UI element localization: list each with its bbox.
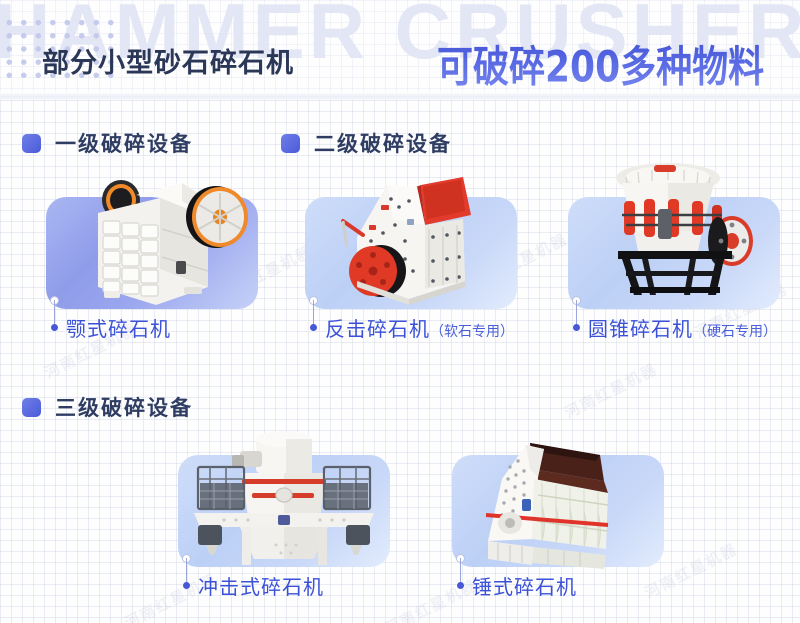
section-heading-secondary: 二级破碎设备: [281, 128, 452, 158]
product-name: 冲击式碎石机: [198, 577, 324, 599]
section-label: 一级破碎设备: [55, 128, 193, 158]
hammer-crusher-illustration: [458, 417, 658, 571]
jaw-crusher-illustration: [58, 165, 263, 313]
product-note: （硬石专用）: [693, 323, 777, 339]
product-name: 圆锥碎石机: [588, 319, 693, 341]
section-label: 三级破碎设备: [55, 392, 193, 422]
hammer-crusher-image: [452, 455, 664, 567]
vsi-crusher-illustration: [180, 421, 388, 571]
header-slogan: 可破碎200多种物料: [437, 33, 764, 94]
square-bullet-icon: [22, 398, 41, 417]
square-bullet-icon: [22, 134, 41, 153]
product-caption: 锤式碎石机: [472, 571, 577, 600]
impact-crusher-illustration: [313, 163, 518, 313]
product-name: 锤式碎石机: [472, 577, 577, 599]
page-title: 部分小型砂石碎石机: [42, 41, 294, 80]
section-label: 二级破碎设备: [314, 128, 452, 158]
product-caption: 冲击式碎石机: [198, 571, 324, 600]
product-note: （软石专用）: [430, 323, 514, 339]
section-heading-primary: 一级破碎设备: [22, 128, 193, 158]
page-header: HAMMER CRUSHER 部分小型砂石碎石机 可破碎200多种物料: [0, 0, 800, 100]
impact-crusher-image: [305, 197, 517, 309]
cone-crusher-illustration: [582, 159, 772, 311]
product-caption: 反击碎石机（软石专用）: [325, 313, 514, 342]
square-bullet-icon: [281, 134, 300, 153]
vsi-crusher-image: [178, 455, 390, 567]
jaw-crusher-image: [46, 197, 258, 309]
product-name: 反击碎石机: [325, 319, 430, 341]
section-heading-tertiary: 三级破碎设备: [22, 392, 193, 422]
product-caption: 圆锥碎石机（硬石专用）: [588, 313, 777, 342]
product-name: 颚式碎石机: [66, 319, 171, 341]
product-caption: 颚式碎石机: [66, 313, 171, 342]
cone-crusher-image: [568, 197, 780, 309]
poster-root: 河南红星机器 河南红星机器 河南红星机器 河南红星机器 河南红星机器 河南红星机…: [0, 0, 800, 623]
header-divider: [0, 92, 800, 100]
